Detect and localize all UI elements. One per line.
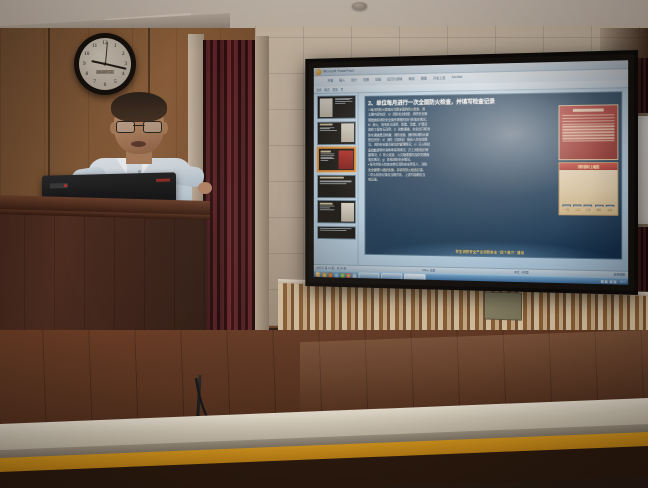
clock-numeral: 9 [83,61,86,67]
system-tray[interactable]: 09:17 [600,280,626,284]
tray-icon[interactable] [605,280,608,283]
window-title: Microsoft PowerPoint [323,69,354,73]
eyeglasses-icon [116,121,162,131]
firefox-icon[interactable] [328,272,332,277]
presenter-hair [111,92,167,122]
laptop-red-accent [156,179,170,182]
tab-animation[interactable]: 动画 [375,77,381,82]
slide-body-line: 握情况；f）防火巡查、火灾隐患整改及防范措施 [368,152,556,157]
slide-body-text: □ 每月的防火检查应当是全面的防火检查，其 主要内容包括：a）消防安全制度、消防… [368,105,556,215]
slide-thumbnail[interactable]: 20 [317,121,356,145]
tab-developer[interactable]: 开发工具 [433,75,445,80]
taskbar-window-powerpoint[interactable] [404,273,425,280]
clock-numeral: 6 [104,82,107,88]
chart-bar-group: 一月 [563,205,571,212]
thumbnail-lines [318,175,355,197]
chart-bar [562,205,571,207]
clock-face: 12 1 2 3 4 5 6 7 8 9 10 11 QUARTZ [79,38,131,90]
thumbnail-number: 21 [317,150,318,153]
tab-view[interactable]: 视图 [421,76,427,81]
slide-editing-area[interactable]: 2、单位每月进行一次全面防火检查，并填写检查记录 □ 每月的防火检查应当是全面的… [358,88,628,271]
status-view: 普通视图 [613,272,625,276]
taskbar-window-doc2[interactable] [381,273,402,280]
thumbnail-lines [318,226,355,238]
thinkpad-logo [50,183,68,188]
door-jamb-right [255,36,269,340]
slide-thumbnail-rail[interactable]: 19 20 21 [314,93,359,265]
equipment-chart-image: 消防器材上墙图 一月 [559,162,619,216]
tab-review[interactable]: 审阅 [408,76,414,81]
chart-bar [595,205,604,207]
chart-bar-group: 二月 [574,205,582,212]
taskbar-window-doc1[interactable] [358,272,379,279]
chrome-icon[interactable] [346,273,350,278]
projected-desktop: Microsoft PowerPoint 开始 插入 设计 切换 动画 幻灯片放… [314,60,628,285]
slide-body-line: □ 防火检查记录应当格式化，上述内容都应当 [368,173,556,177]
current-slide[interactable]: 2、单位每月进行一次全面防火检查，并填写检查记录 □ 每月的防火检查应当是全面的… [365,91,623,259]
presenter-ear-right [161,122,168,134]
tray-icon[interactable] [613,280,616,283]
lens-left [116,121,135,133]
clock-numeral: 8 [85,71,88,77]
slide-thumbnail[interactable]: 24 [317,225,356,239]
slide-thumbnail[interactable]: 19 [317,95,356,119]
chart-bar-label: 五月 [608,208,613,212]
thumbnail-image [341,202,354,221]
status-language: 中文（中国） [514,270,531,274]
tab-insert[interactable]: 插入 [339,78,345,83]
security-icon[interactable] [340,272,344,277]
tab-design[interactable]: 设计 [351,77,357,82]
slide-body-line: 安全管理人组织实施，并填写防火检查记录。 [368,168,556,172]
chart-bars: 一月 二月 三月 [561,173,615,212]
tab-start[interactable]: 开始 [327,78,333,83]
command-layout[interactable]: 版式 [324,87,329,92]
slide-body-line: • 每月的防火检查由单位消防安全责任人、消防 [368,163,556,167]
clock-numeral: 11 [92,43,97,49]
wall-access-panel [484,291,522,320]
tab-slideshow[interactable]: 幻灯片放映 [387,76,402,81]
chart-bar-group: 五月 [606,205,614,212]
slide-thumbnail[interactable]: 23 [317,200,356,224]
projection-screen: Microsoft PowerPoint 开始 插入 设计 切换 动画 幻灯片放… [305,50,638,295]
slide-thumbnail-selected[interactable]: 21 [317,147,356,172]
chart-bar-group: 四月 [595,205,603,212]
lens-right [143,121,162,133]
slide-body-line: 落实情况；g）其他消防安全情况。 [368,157,556,162]
clock-numeral: 2 [122,51,125,57]
thumbnail-lines [318,122,339,144]
clock-center-pin [104,63,107,66]
thumbnail-image [341,123,354,142]
clock-numeral: 7 [93,79,96,85]
clock-numeral: 4 [122,71,125,77]
clock-numeral: 10 [84,51,89,57]
chart-bar [573,205,582,207]
clock-numeral: 5 [114,79,117,85]
powerpoint-workspace: 19 20 21 [314,88,628,271]
thumbnail-lines [333,96,355,118]
chart-title: 消防器材上墙图 [577,164,599,169]
chart-bar [606,205,615,207]
room-photo: 12 1 2 3 4 5 6 7 8 9 10 11 QUARTZ Micros… [0,0,648,488]
chart-bar [584,205,593,207]
slide-body-line: 有记录。 [368,178,556,182]
tray-icon[interactable] [609,280,612,283]
thumbnail-lines [318,201,339,223]
command-file[interactable]: 文件 [316,87,321,92]
status-slide-indicator: 幻灯片 第 21 张，共 46 张 [316,266,346,270]
wall-clock: 12 1 2 3 4 5 6 7 8 9 10 11 QUARTZ [74,33,136,95]
clock-minute-hand [106,63,127,69]
chart-bar-label: 三月 [586,208,591,212]
chart-header: 消防器材上墙图 [559,163,617,170]
fire-inspection-record-image [559,104,619,160]
clock-numeral: 1 [114,43,117,49]
thumbnail-lines [319,149,337,170]
slide-illustrations: 消防器材上墙图 一月 [559,104,619,216]
presenter-mouth [131,141,146,147]
tab-acrobat[interactable]: Acrobat [452,75,463,80]
chart-bar-label: 一月 [564,207,569,211]
chart-bar-label: 四月 [597,208,602,212]
slide-body-line: 急疏散预案的演练等事项情况；员工消防知识掌 [368,147,556,152]
media-player-icon[interactable] [334,272,338,277]
internet-explorer-icon[interactable] [322,272,326,277]
clock-numeral: 3 [124,61,127,67]
slide-thumbnail[interactable]: 22 [317,174,356,197]
tray-icon[interactable] [600,280,603,283]
record-table-heading [573,108,604,111]
chart-bar-group: 三月 [584,205,592,212]
thumbnail-image-red [338,150,353,169]
notepad-icon[interactable] [352,273,356,278]
tab-transition[interactable]: 切换 [363,77,369,82]
office-orb-icon[interactable] [315,68,321,75]
status-theme: Office 主题 [422,268,435,272]
command-reset[interactable]: 重设 [332,87,337,92]
command-section[interactable]: 节 [340,87,343,92]
start-button[interactable] [315,271,320,277]
presenter-hand-right [198,182,212,194]
clock-brand-label: QUARTZ [96,70,114,74]
taskbar-clock[interactable]: 09:17 [620,280,626,283]
chart-bar-label: 二月 [575,208,580,212]
thumbnail-image [319,98,332,117]
smoke-detector-icon [352,2,367,10]
